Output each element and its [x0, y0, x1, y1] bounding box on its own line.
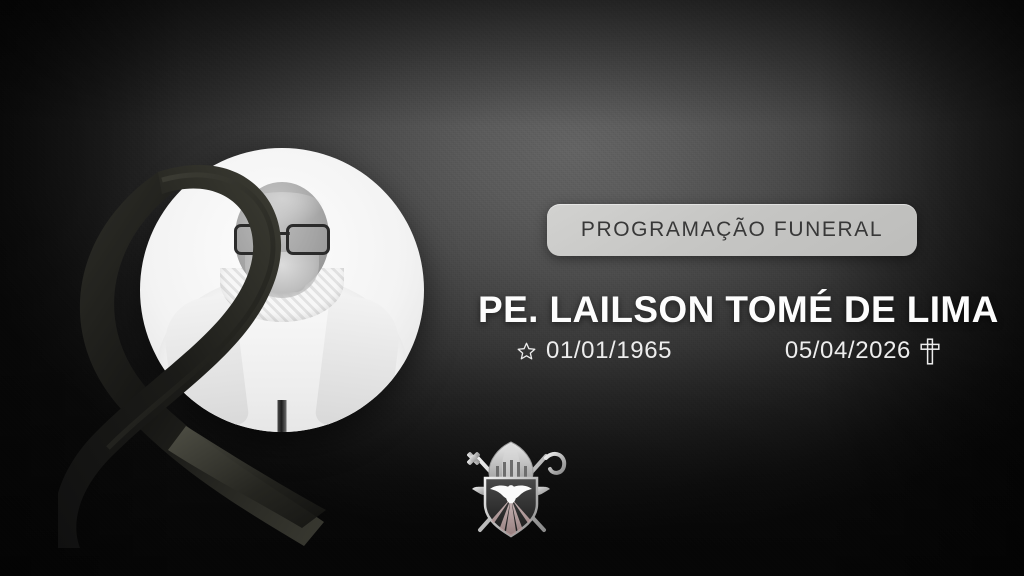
funeral-announcement-slide: PROGRAMAÇÃO FUNERAL PE. LAILSON TOMÉ DE … [0, 0, 1024, 576]
birth-date-text: 01/01/1965 [546, 337, 672, 365]
death-date-group: 05/04/2026 [785, 337, 940, 365]
held-cross-icon [228, 400, 336, 432]
funeral-program-badge[interactable]: PROGRAMAÇÃO FUNERAL [547, 204, 917, 256]
star-outline-icon [516, 341, 537, 362]
priest-forehead [239, 192, 325, 226]
portrait-circle-frame [140, 148, 424, 432]
funeral-program-badge-label: PROGRAMAÇÃO FUNERAL [581, 218, 883, 242]
life-dates: 01/01/1965 05/04/2026 [478, 337, 978, 365]
eyeglasses-icon [234, 224, 330, 250]
portrait-photo [140, 148, 424, 432]
death-date-text: 05/04/2026 [785, 337, 911, 365]
latin-cross-icon [920, 338, 940, 365]
diocese-coat-of-arms-emblem [452, 426, 570, 544]
deceased-name: PE. LAILSON TOMÉ DE LIMA [478, 289, 978, 331]
birth-date-group: 01/01/1965 [516, 337, 672, 365]
